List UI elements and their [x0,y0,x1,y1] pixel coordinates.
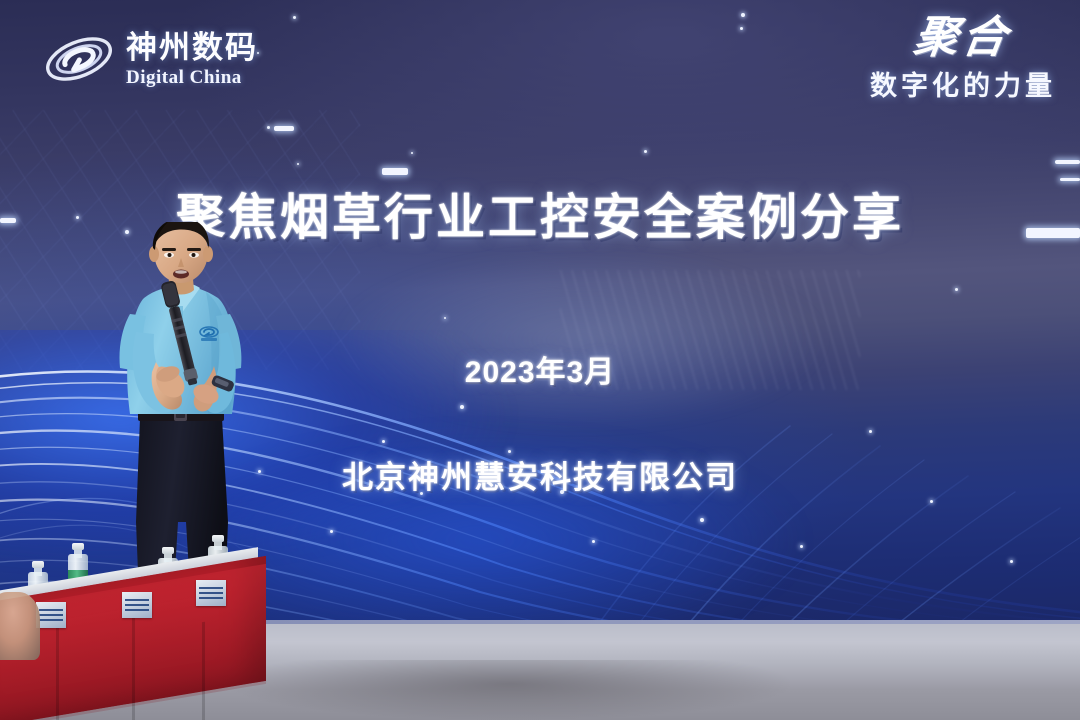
light-particle [869,430,872,433]
light-particle [330,530,333,533]
name-card [36,602,66,628]
light-particle [267,126,270,129]
stage-floor-shadow [230,660,790,720]
event-logo: 聚合 数字化的力量 [806,18,1056,118]
name-card [196,580,226,606]
digital-china-wordmark: 神州数码 Digital China [126,32,258,87]
digital-china-swirl-icon [42,27,116,91]
light-particle [955,288,958,291]
event-logo-subtitle: 数字化的力量 [806,64,1056,103]
name-card-text [39,607,63,621]
conference-photo-scene: 神州数码 Digital China 聚合 数字化的力量 聚焦烟草行业工控安全案… [0,0,1080,720]
digital-china-logo: 神州数码 Digital China [42,18,312,100]
digital-china-chinese-name: 神州数码 [126,32,258,63]
name-card-text [199,585,223,599]
table-skirt-fold [132,614,135,720]
light-particle [297,163,299,165]
light-particle [740,27,743,30]
light-particle [460,405,464,409]
name-card [122,592,152,618]
event-logo-calligraphy: 聚合 [803,18,1059,58]
light-particle [444,317,446,319]
light-streak [274,126,294,131]
light-particle [741,13,745,17]
light-streak [382,168,408,175]
light-streak [1055,160,1080,164]
digital-china-english-name: Digital China [126,68,258,87]
name-card-text [125,597,149,611]
light-particle [382,440,385,443]
light-particle [930,500,933,503]
light-particle [411,152,413,154]
table-skirt-fold [202,622,205,720]
light-particle [700,518,704,522]
seated-audience-member [0,592,40,660]
light-particle [592,540,595,543]
light-particle [644,150,647,153]
light-particle [1010,560,1013,563]
head-table [0,540,290,720]
light-particle [800,545,803,548]
